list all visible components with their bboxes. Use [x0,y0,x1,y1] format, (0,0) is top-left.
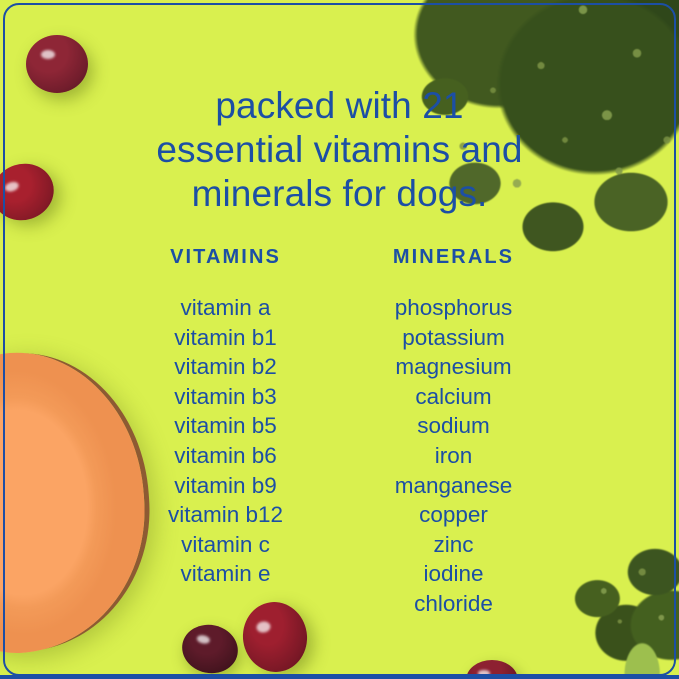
minerals-list: phosphorus potassium magnesium calcium s… [340,293,568,619]
list-item: iron [340,441,568,471]
list-item: zinc [340,530,568,560]
list-item: sodium [340,411,568,441]
list-item: vitamin b6 [112,441,340,471]
vitamins-column-header: VITAMINS [112,246,340,269]
list-item: vitamin b5 [112,411,340,441]
vitamins-column: VITAMINS vitamin a vitamin b1 vitamin b2… [112,246,340,619]
headline-line-2: essential vitamins and [96,128,583,172]
list-item: iodine [340,559,568,589]
poster-content: packed with 21 essential vitamins and mi… [0,0,679,679]
list-item: magnesium [340,352,568,382]
list-item: potassium [340,323,568,353]
list-item: manganese [340,471,568,501]
list-item: chloride [340,589,568,619]
list-item: vitamin b12 [112,500,340,530]
nutrient-columns: VITAMINS vitamin a vitamin b1 vitamin b2… [0,246,679,619]
minerals-column: MINERALS phosphorus potassium magnesium … [340,246,568,619]
headline-line-1: packed with 21 [96,84,583,128]
headline-line-3: minerals for dogs. [96,172,583,216]
list-item: vitamin b9 [112,471,340,501]
list-item: calcium [340,382,568,412]
list-item: vitamin a [112,293,340,323]
minerals-column-header: MINERALS [340,246,568,269]
list-item: vitamin c [112,530,340,560]
list-item: vitamin b3 [112,382,340,412]
list-item: phosphorus [340,293,568,323]
list-item: vitamin b1 [112,323,340,353]
vitamins-list: vitamin a vitamin b1 vitamin b2 vitamin … [112,293,340,589]
nutrition-infographic-poster: packed with 21 essential vitamins and mi… [0,0,679,679]
page-title: packed with 21 essential vitamins and mi… [0,84,679,216]
bottom-accent-band [0,675,679,679]
list-item: vitamin b2 [112,352,340,382]
list-item: copper [340,500,568,530]
list-item: vitamin e [112,559,340,589]
